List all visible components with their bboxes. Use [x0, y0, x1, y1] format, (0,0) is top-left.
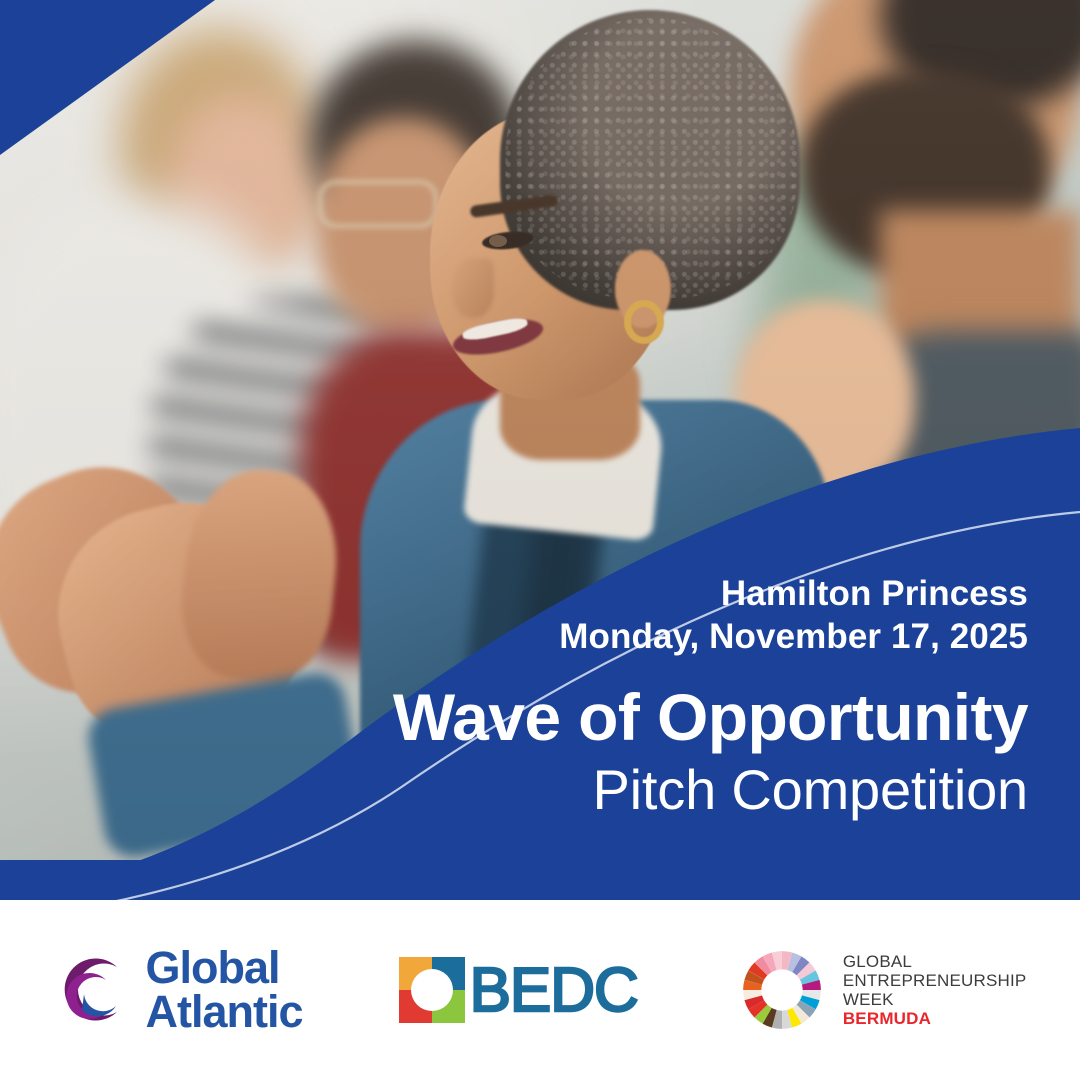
- gew-line-bermuda: BERMUDA: [843, 1009, 1027, 1028]
- logo-gew-bermuda[interactable]: GLOBAL ENTREPRENEURSHIP WEEK BERMUDA: [734, 942, 1027, 1038]
- gew-line-2: ENTREPRENEURSHIP: [843, 971, 1027, 990]
- page-title: Wave of Opportunity: [268, 683, 1028, 753]
- bedc-wordmark: BEDC: [470, 955, 638, 1026]
- logo-bedc[interactable]: BEDC: [399, 955, 638, 1026]
- event-text-block: Hamilton Princess Monday, November 17, 2…: [268, 574, 1028, 821]
- logo-global-atlantic[interactable]: Global Atlantic: [54, 946, 303, 1033]
- global-atlantic-swirl-icon: [54, 950, 132, 1030]
- bedc-square-icon: [399, 957, 465, 1023]
- blue-base-band: [0, 860, 1080, 900]
- corner-triangle: [0, 0, 215, 155]
- sponsor-logo-row: Global Atlantic BEDC: [0, 900, 1080, 1080]
- gew-line-3: WEEK: [843, 990, 1027, 1009]
- venue-text: Hamilton Princess: [268, 574, 1028, 615]
- gew-wordmark: GLOBAL ENTREPRENEURSHIP WEEK BERMUDA: [843, 952, 1027, 1028]
- gew-line-1: GLOBAL: [843, 952, 1027, 971]
- page-subtitle: Pitch Competition: [268, 759, 1028, 821]
- global-atlantic-line-2: Atlantic: [146, 990, 303, 1034]
- global-atlantic-line-1: Global: [146, 946, 303, 990]
- poster: Hamilton Princess Monday, November 17, 2…: [0, 0, 1080, 1080]
- global-atlantic-wordmark: Global Atlantic: [146, 946, 303, 1033]
- event-date: Monday, November 17, 2025: [268, 617, 1028, 658]
- gew-color-ring-icon: [734, 942, 830, 1038]
